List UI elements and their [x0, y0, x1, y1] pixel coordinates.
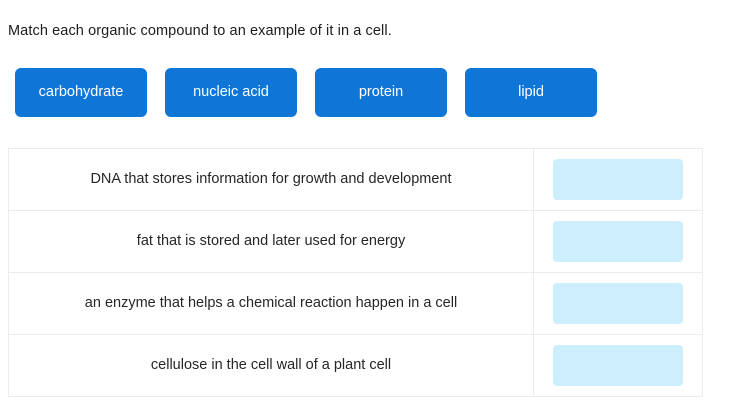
- answer-drop-zone[interactable]: [553, 159, 683, 200]
- choice-bank: carbohydrate nucleic acid protein lipid: [15, 68, 597, 117]
- table-row: an enzyme that helps a chemical reaction…: [9, 273, 702, 335]
- table-row: DNA that stores information for growth a…: [9, 149, 702, 211]
- answer-drop-zone[interactable]: [553, 283, 683, 324]
- choice-chip-nucleic-acid[interactable]: nucleic acid: [165, 68, 297, 117]
- table-row: cellulose in the cell wall of a plant ce…: [9, 335, 702, 397]
- prompt-cell: an enzyme that helps a chemical reaction…: [9, 273, 534, 334]
- choice-chip-lipid[interactable]: lipid: [465, 68, 597, 117]
- answer-cell: [534, 273, 702, 334]
- table-row: fat that is stored and later used for en…: [9, 211, 702, 273]
- prompt-cell: DNA that stores information for growth a…: [9, 149, 534, 210]
- prompt-text: an enzyme that helps a chemical reaction…: [85, 294, 457, 313]
- answer-cell: [534, 149, 702, 210]
- prompt-text: cellulose in the cell wall of a plant ce…: [151, 356, 391, 375]
- answer-cell: [534, 211, 702, 272]
- answer-drop-zone[interactable]: [553, 221, 683, 262]
- prompt-cell: cellulose in the cell wall of a plant ce…: [9, 335, 534, 396]
- match-table: DNA that stores information for growth a…: [8, 148, 703, 397]
- prompt-text: DNA that stores information for growth a…: [90, 170, 451, 189]
- page-title: Match each organic compound to an exampl…: [8, 22, 392, 40]
- answer-cell: [534, 335, 702, 396]
- choice-chip-protein[interactable]: protein: [315, 68, 447, 117]
- answer-drop-zone[interactable]: [553, 345, 683, 386]
- prompt-cell: fat that is stored and later used for en…: [9, 211, 534, 272]
- choice-chip-carbohydrate[interactable]: carbohydrate: [15, 68, 147, 117]
- prompt-text: fat that is stored and later used for en…: [137, 232, 405, 251]
